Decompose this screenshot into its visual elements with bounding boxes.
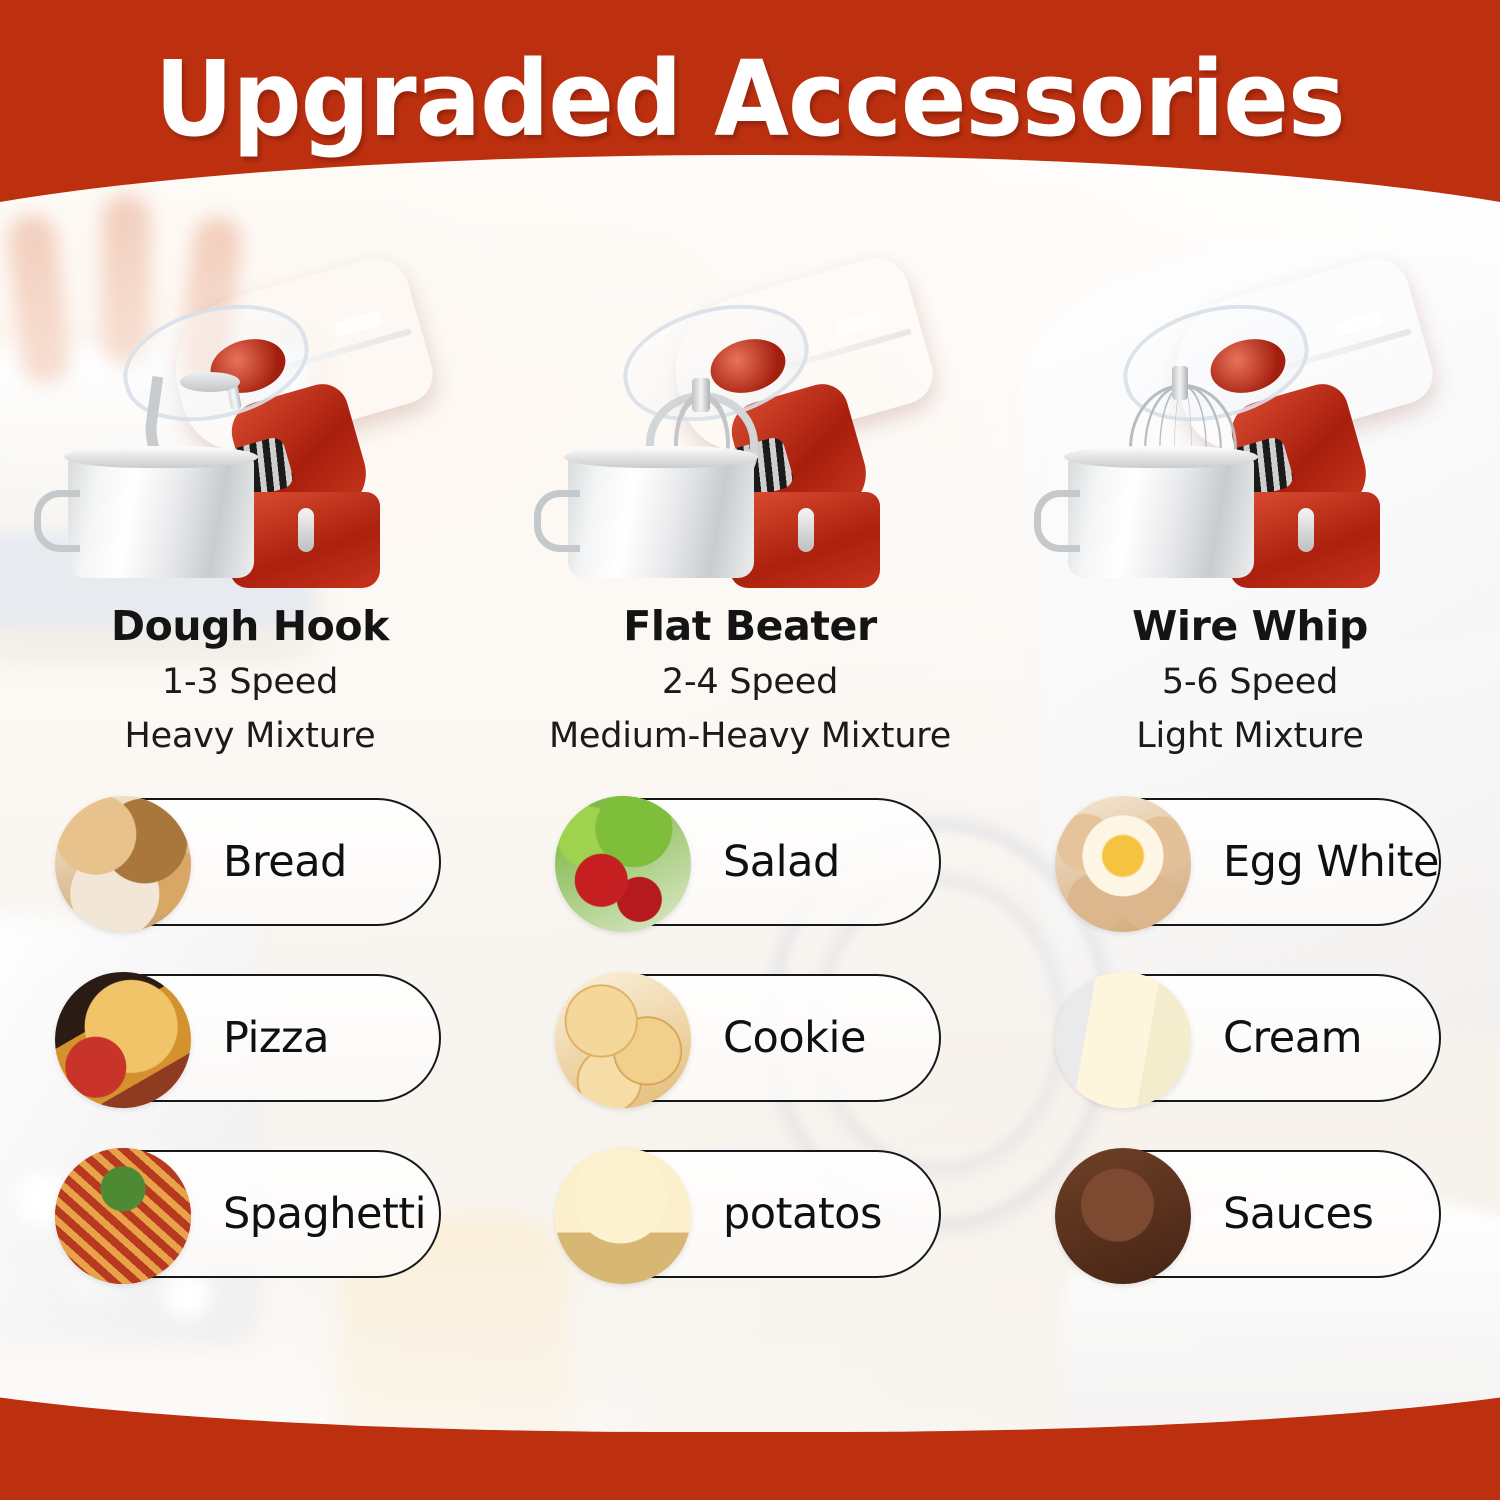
use-case-chip-cream[interactable]: Cream [1059, 974, 1441, 1102]
use-case-cell: Cookie [500, 974, 1000, 1102]
use-case-cell: potatos [500, 1150, 1000, 1278]
attachment-speed: 5-6 Speed [1162, 662, 1338, 702]
page-title: Upgraded Accessories [155, 38, 1345, 160]
potatos-thumbnail-icon [555, 1148, 691, 1284]
use-case-label: Sauces [1223, 1189, 1373, 1239]
mixing-bowl [568, 456, 754, 578]
attachment-speed: 1-3 Speed [162, 662, 338, 702]
use-case-label: potatos [723, 1189, 882, 1239]
bowl-handle [34, 490, 80, 552]
header-banner: Upgraded Accessories [0, 0, 1500, 240]
attachment-column-dough-hook: Dough Hook 1-3 Speed Heavy Mixture [0, 258, 500, 788]
attachment-speed: 2-4 Speed [662, 662, 838, 702]
use-case-chip-bread[interactable]: Bread [59, 798, 441, 926]
use-case-row: Bread Salad Egg White [0, 798, 1500, 926]
speed-knob-icon [298, 508, 314, 552]
attachment-name: Flat Beater [623, 602, 877, 650]
attachment-name: Wire Whip [1132, 602, 1368, 650]
brand-logo-icon [334, 310, 382, 337]
use-case-cell: Salad [500, 798, 1000, 926]
attachment-mixture: Light Mixture [1136, 716, 1364, 756]
use-case-grid: Bread Salad Egg White Pizza [0, 798, 1500, 1278]
stand-mixer-flat-beater-image [560, 264, 940, 594]
use-case-cell: Bread [0, 798, 500, 926]
use-case-chip-potatos[interactable]: potatos [559, 1150, 941, 1278]
attachment-mixture: Heavy Mixture [125, 716, 376, 756]
use-case-cell: Pizza [0, 974, 500, 1102]
sauces-thumbnail-icon [1055, 1148, 1191, 1284]
use-case-label: Bread [223, 837, 347, 887]
use-case-label: Salad [723, 837, 840, 887]
use-case-chip-sauces[interactable]: Sauces [1059, 1150, 1441, 1278]
stand-mixer-dough-hook-image [60, 264, 440, 594]
spaghetti-thumbnail-icon [55, 1148, 191, 1284]
bowl-handle [534, 490, 580, 552]
use-case-chip-egg-white[interactable]: Egg White [1059, 798, 1441, 926]
use-case-label: Pizza [223, 1013, 329, 1063]
attachment-column-wire-whip: Wire Whip 5-6 Speed Light Mixture [1000, 258, 1500, 788]
use-case-cell: Spaghetti [0, 1150, 500, 1278]
use-case-chip-spaghetti[interactable]: Spaghetti [59, 1150, 441, 1278]
salad-thumbnail-icon [555, 796, 691, 932]
mixing-bowl [1068, 456, 1254, 578]
product-infographic: Upgraded Accessories Dough Hook 1-3 Spee… [0, 0, 1500, 1500]
egg-white-thumbnail-icon [1055, 796, 1191, 932]
brand-logo-icon [1334, 310, 1382, 337]
use-case-cell: Sauces [1000, 1150, 1500, 1278]
attachment-columns: Dough Hook 1-3 Speed Heavy Mixture Flat … [0, 258, 1500, 788]
use-case-label: Egg White [1223, 837, 1439, 887]
use-case-label: Cookie [723, 1013, 866, 1063]
use-case-label: Spaghetti [223, 1189, 426, 1239]
bowl-handle [1034, 490, 1080, 552]
attachment-mixture: Medium-Heavy Mixture [549, 716, 951, 756]
use-case-row: Pizza Cookie Cream [0, 974, 1500, 1102]
brand-logo-icon [834, 310, 882, 337]
stand-mixer-wire-whip-image [1060, 264, 1440, 594]
use-case-label: Cream [1223, 1013, 1362, 1063]
mixing-bowl [68, 456, 254, 578]
use-case-chip-pizza[interactable]: Pizza [59, 974, 441, 1102]
use-case-chip-cookie[interactable]: Cookie [559, 974, 941, 1102]
attachment-column-flat-beater: Flat Beater 2-4 Speed Medium-Heavy Mixtu… [500, 258, 1000, 788]
attachment-name: Dough Hook [111, 602, 389, 650]
pizza-thumbnail-icon [55, 972, 191, 1108]
cookie-thumbnail-icon [555, 972, 691, 1108]
bread-thumbnail-icon [55, 796, 191, 932]
speed-knob-icon [798, 508, 814, 552]
use-case-row: Spaghetti potatos Sauces [0, 1150, 1500, 1278]
use-case-cell: Cream [1000, 974, 1500, 1102]
speed-knob-icon [1298, 508, 1314, 552]
cream-thumbnail-icon [1055, 972, 1191, 1108]
use-case-cell: Egg White [1000, 798, 1500, 926]
use-case-chip-salad[interactable]: Salad [559, 798, 941, 926]
